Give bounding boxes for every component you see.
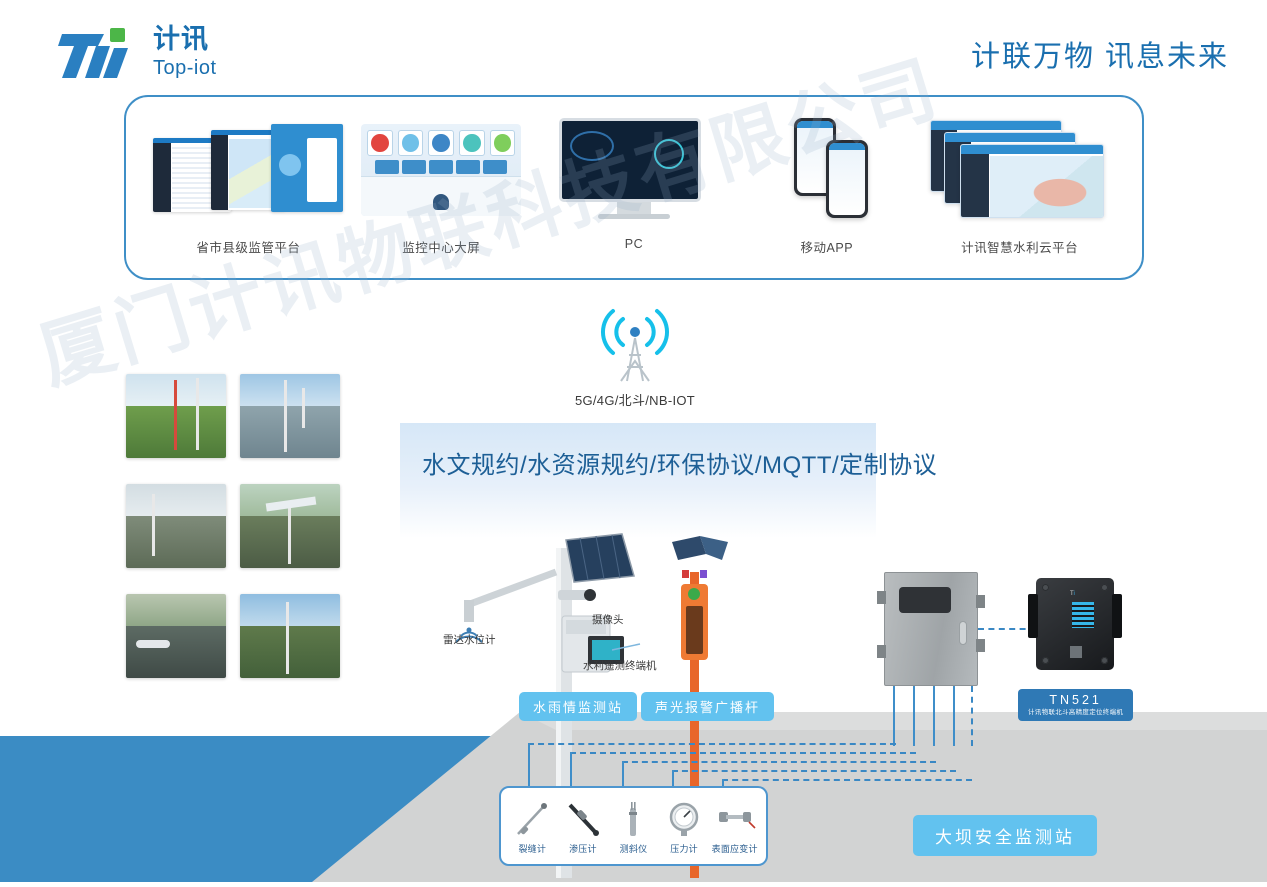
field-photo <box>240 484 340 568</box>
sensor-drop-line <box>672 770 674 787</box>
topiot-logo-icon <box>58 22 144 80</box>
sensor-drop-line <box>570 752 572 787</box>
brand-logo: 计讯 Top-iot <box>58 22 217 80</box>
platform-item-pc[interactable]: PC <box>538 111 731 251</box>
control-room-icon <box>361 111 521 229</box>
sensor-item-crack-meter[interactable]: 裂缝计 <box>507 798 557 855</box>
hydrology-station-tag[interactable]: 水雨情监测站 <box>519 692 637 721</box>
header-slogan: 计联万物 讯息未来 <box>971 33 1229 75</box>
platform-item-supervision[interactable]: 省市县级监管平台 <box>152 111 345 256</box>
camera-label: 摄像头 <box>592 612 624 627</box>
platform-label: 省市县级监管平台 <box>196 237 300 256</box>
logo-chinese-text: 计讯 <box>153 26 217 54</box>
field-photo <box>240 374 340 458</box>
platform-label: 计讯智慧水利云平台 <box>961 237 1078 256</box>
platform-label: 监控中心大屏 <box>402 237 480 256</box>
surface-strain-gauge-icon <box>713 798 757 838</box>
inclinometer-icon <box>613 798 653 838</box>
dam-sensor-box: 裂缝计 渗压计 测斜仪 <box>499 786 768 866</box>
sensor-label: 测斜仪 <box>620 842 648 855</box>
mobile-phone-icon <box>772 111 882 229</box>
desktop-monitor-icon <box>559 111 709 229</box>
sensor-bus-line <box>528 743 896 745</box>
sensor-bus-line <box>672 770 956 772</box>
alarm-pole-tag[interactable]: 声光报警广播杆 <box>641 692 774 721</box>
cabinet-cable <box>971 686 973 746</box>
diagram-stage: 厦门计讯物联科技有限公司 计讯 Top-iot 计联万物 讯息未来 <box>0 0 1267 882</box>
cabinet-cable <box>913 686 915 746</box>
piezometer-icon <box>563 798 603 838</box>
device-qr-label <box>1070 646 1082 658</box>
radar-level-label: 雷达水位计 <box>443 632 496 647</box>
tn521-device[interactable]: Ti <box>1036 578 1114 670</box>
sensor-item-piezometer[interactable]: 渗压计 <box>558 798 608 855</box>
photo-row <box>126 594 346 678</box>
sensor-item-strain-gauge[interactable]: 表面应变计 <box>710 798 760 855</box>
sensor-bus-line <box>722 779 972 781</box>
sensor-drop-line <box>528 743 530 787</box>
protocol-text: 水文规约/水资源规约/环保协议/MQTT/定制协议 <box>422 445 937 480</box>
photo-row <box>126 484 346 568</box>
cabinet-handle-icon <box>959 621 967 645</box>
pressure-gauge-icon <box>664 798 704 838</box>
cabinet-cable <box>953 686 955 746</box>
field-control-cabinet[interactable] <box>884 572 978 686</box>
field-photo <box>126 374 226 458</box>
signal-tower-icon <box>565 305 705 388</box>
field-photo <box>240 594 340 678</box>
field-photo <box>126 484 226 568</box>
dam-safety-station-tag[interactable]: 大坝安全监测站 <box>913 815 1097 856</box>
field-photo <box>126 594 226 678</box>
cabinet-cable <box>933 686 935 746</box>
logo-english-text: Top-iot <box>153 58 217 78</box>
sensor-label: 表面应变计 <box>712 842 758 855</box>
platform-panel: 省市县级监管平台 监控中心大屏 PC <box>124 95 1144 280</box>
rtu-label: 水利遥测终端机 <box>583 658 657 673</box>
photo-row <box>126 374 346 458</box>
sensor-label: 裂缝计 <box>518 842 546 855</box>
tn521-tag[interactable]: TN521 计讯物联北斗高精度定位终端机 <box>1018 689 1133 721</box>
platform-item-cloud[interactable]: 计讯智慧水利云平台 <box>923 111 1116 256</box>
multi-screen-dashboard-icon <box>153 111 343 229</box>
cabinet-cable <box>893 686 895 746</box>
sensor-label: 压力计 <box>670 842 698 855</box>
sensor-drop-line <box>622 761 624 787</box>
network-tower: 5G/4G/北斗/NB-IOT <box>565 305 705 409</box>
sensor-bus-line <box>622 761 936 763</box>
crack-meter-icon <box>512 798 552 838</box>
field-photo-grid <box>126 374 346 704</box>
device-indicator-stripe <box>1072 602 1094 628</box>
platform-label: 移动APP <box>801 237 854 256</box>
tn521-description: 计讯物联北斗高精度定位终端机 <box>1028 709 1123 717</box>
sensor-bus-line <box>570 752 916 754</box>
tn521-model: TN521 <box>1028 693 1123 709</box>
sensor-label: 渗压计 <box>569 842 597 855</box>
cabinet-window <box>899 587 951 613</box>
platform-item-mobile-app[interactable]: 移动APP <box>730 111 923 256</box>
sensor-item-pressure-gauge[interactable]: 压力计 <box>659 798 709 855</box>
sensor-item-inclinometer[interactable]: 测斜仪 <box>608 798 658 855</box>
device-brand-mark: Ti <box>1070 591 1075 597</box>
platform-item-control-room[interactable]: 监控中心大屏 <box>345 111 538 256</box>
network-tower-label: 5G/4G/北斗/NB-IOT <box>565 390 705 409</box>
platform-label: PC <box>625 237 643 251</box>
cloud-platform-windows-icon <box>930 111 1110 229</box>
